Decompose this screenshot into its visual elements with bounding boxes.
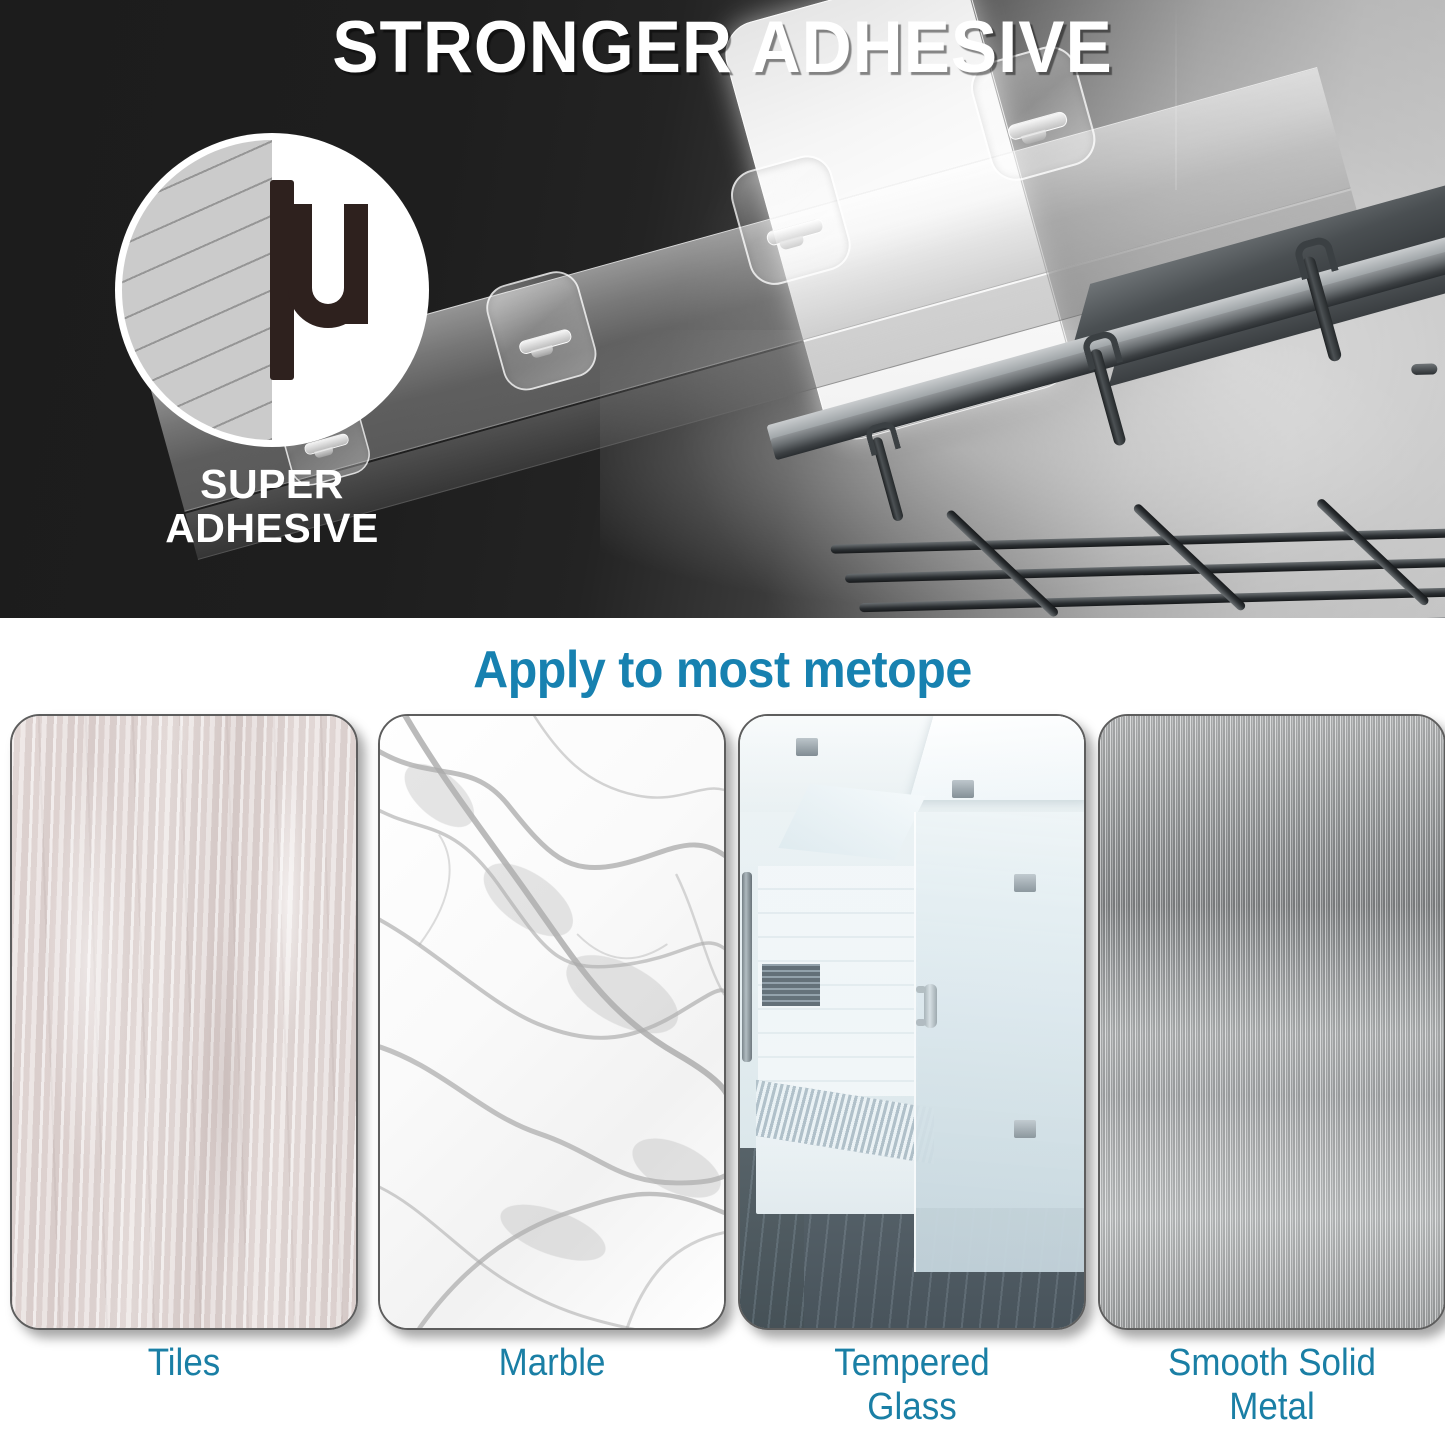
tiled-wall-texture-icon [122,140,272,440]
tempered-glass-shower-photo [740,716,1084,1328]
surface-label-line2: Glass [752,1386,1072,1429]
surface-card-tempered-glass[interactable] [738,714,1086,1330]
surface-label-line1: Tempered [752,1342,1072,1386]
badge-label: SUPER ADHESIVE [112,462,432,551]
frosted-overlay [740,716,1084,1328]
tiles-travertine-swatch [12,716,356,1328]
marble-veins-icon [380,716,724,1328]
hero-banner: SUPER ADHESIVE STRONGER ADHESIVE [0,0,1445,618]
surface-label-line2: Metal [1112,1386,1432,1429]
super-adhesive-badge: SUPER ADHESIVE [122,140,422,580]
brushed-metal-swatch [1100,716,1444,1328]
surface-label-line1: Smooth Solid [1112,1342,1432,1386]
white-marble-swatch [380,716,724,1328]
surface-caption-row: Tiles Marble Tempered Glass Smooth Solid… [0,1342,1445,1416]
adhesive-mu-symbol-icon [270,180,374,380]
surface-card-tiles[interactable] [10,714,358,1330]
badge-circle [122,140,422,440]
hook-slot-icon [518,328,573,356]
surface-card-metal[interactable] [1098,714,1445,1330]
badge-label-line2: ADHESIVE [112,506,432,550]
surface-swatch-grid [0,714,1445,1414]
section-title: Apply to most metope [51,640,1395,700]
surfaces-section: Apply to most metope [0,618,1445,1416]
surface-label-tiles: Tiles [24,1342,344,1386]
surface-card-marble[interactable] [378,714,726,1330]
surface-label-marble: Marble [392,1342,712,1386]
hero-title: STRONGER ADHESIVE [36,6,1409,89]
badge-label-line1: SUPER [112,462,432,506]
